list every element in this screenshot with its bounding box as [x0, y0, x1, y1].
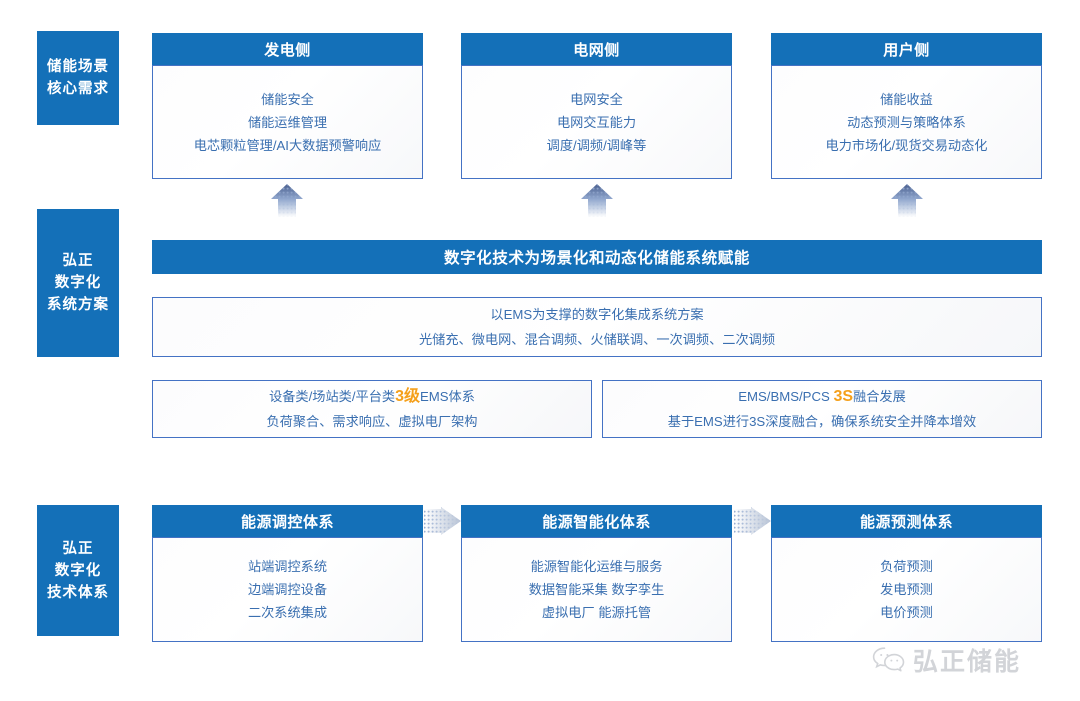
card-line: 能源智能化运维与服务 — [531, 555, 663, 578]
card-line: 电力市场化/现货交易动态化 — [826, 134, 988, 157]
right-chevron-dotted-icon — [733, 506, 773, 536]
sidebar-line: 数字化 — [47, 560, 109, 582]
card-line: 电网安全 — [570, 88, 623, 111]
box-line: 负荷聚合、需求响应、虚拟电厂架构 — [267, 409, 478, 434]
box-line: 设备类/场站类/平台类3级EMS体系 — [269, 384, 475, 409]
card-line: 电价预测 — [880, 601, 933, 624]
card-energy-intelligence[interactable]: 能源智能化体系 能源智能化运维与服务 数据智能采集 数字孪生 虚拟电厂 能源托管 — [461, 505, 732, 642]
card-body: 储能安全 储能运维管理 电芯颗粒管理/AI大数据预警响应 — [152, 65, 423, 179]
card-line: 储能收益 — [880, 88, 933, 111]
up-chevron-dotted-icon — [580, 183, 614, 219]
card-title: 能源智能化体系 — [461, 505, 732, 537]
card-line: 数据智能采集 数字孪生 — [529, 578, 665, 601]
card-body: 电网安全 电网交互能力 调度/调频/调峰等 — [461, 65, 732, 179]
sidebar-line: 系统方案 — [47, 294, 109, 316]
card-energy-forecast[interactable]: 能源预测体系 负荷预测 发电预测 电价预测 — [771, 505, 1042, 642]
box-three-s-fusion[interactable]: EMS/BMS/PCS 3S融合发展 基于EMS进行3S深度融合，确保系统安全并… — [602, 380, 1042, 438]
card-line: 二次系统集成 — [248, 601, 327, 624]
sidebar-line: 核心需求 — [47, 78, 109, 100]
card-line: 电芯颗粒管理/AI大数据预警响应 — [194, 134, 382, 157]
card-generation-side[interactable]: 发电侧 储能安全 储能运维管理 电芯颗粒管理/AI大数据预警响应 — [152, 33, 423, 179]
sidebar-line: 数字化 — [47, 272, 109, 294]
card-body: 能源智能化运维与服务 数据智能采集 数字孪生 虚拟电厂 能源托管 — [461, 537, 732, 642]
card-line: 边端调控设备 — [248, 578, 327, 601]
sidebar-label-digital-system-solution: 弘正 数字化 系统方案 — [37, 209, 119, 357]
box-line-highlight: 3级 — [395, 388, 420, 405]
card-body: 站端调控系统 边端调控设备 二次系统集成 — [152, 537, 423, 642]
sidebar-label-digital-technology-system: 弘正 数字化 技术体系 — [37, 505, 119, 636]
card-line: 调度/调频/调峰等 — [547, 134, 647, 157]
card-line: 电网交互能力 — [557, 111, 636, 134]
card-body: 储能收益 动态预测与策略体系 电力市场化/现货交易动态化 — [771, 65, 1042, 179]
sidebar-label-scenario-core-demand: 储能场景 核心需求 — [37, 31, 119, 125]
box-line: 以EMS为支撑的数字化集成系统方案 — [490, 302, 703, 327]
card-energy-dispatch-control[interactable]: 能源调控体系 站端调控系统 边端调控设备 二次系统集成 — [152, 505, 423, 642]
card-body: 负荷预测 发电预测 电价预测 — [771, 537, 1042, 642]
card-title: 用户侧 — [771, 33, 1042, 65]
card-line: 虚拟电厂 能源托管 — [542, 601, 651, 624]
sidebar-line: 弘正 — [47, 538, 109, 560]
up-chevron-dotted-icon — [890, 183, 924, 219]
sidebar-line: 技术体系 — [47, 582, 109, 604]
card-line: 站端调控系统 — [248, 555, 327, 578]
card-user-side[interactable]: 用户侧 储能收益 动态预测与策略体系 电力市场化/现货交易动态化 — [771, 33, 1042, 179]
box-line: EMS/BMS/PCS 3S融合发展 — [738, 384, 906, 409]
box-line: 基于EMS进行3S深度融合，确保系统安全并降本增效 — [668, 409, 976, 434]
up-chevron-dotted-icon — [270, 183, 304, 219]
box-line-pre: 设备类/场站类/平台类 — [269, 389, 395, 404]
watermark: 弘正储能 — [872, 642, 1021, 678]
sidebar-line: 储能场景 — [47, 56, 109, 78]
box-three-level-ems[interactable]: 设备类/场站类/平台类3级EMS体系 负荷聚合、需求响应、虚拟电厂架构 — [152, 380, 592, 438]
card-title: 能源调控体系 — [152, 505, 423, 537]
box-line-highlight: 3S — [833, 388, 853, 405]
card-title: 电网侧 — [461, 33, 732, 65]
box-line-post: 融合发展 — [853, 389, 906, 404]
box-line: 光储充、微电网、混合调频、火储联调、一次调频、二次调频 — [419, 327, 775, 352]
box-line-pre: EMS/BMS/PCS — [738, 389, 833, 404]
card-line: 发电预测 — [880, 578, 933, 601]
infographic-canvas: 储能场景 核心需求 发电侧 储能安全 储能运维管理 电芯颗粒管理/AI大数据预警… — [0, 0, 1080, 701]
box-ems-integrated-solution[interactable]: 以EMS为支撑的数字化集成系统方案 光储充、微电网、混合调频、火储联调、一次调频… — [152, 297, 1042, 357]
banner-digital-enablement: 数字化技术为场景化和动态化储能系统赋能 — [152, 240, 1042, 274]
card-line: 储能运维管理 — [248, 111, 327, 134]
right-chevron-dotted-icon — [423, 506, 463, 536]
card-line: 储能安全 — [261, 88, 314, 111]
watermark-text: 弘正储能 — [913, 642, 1021, 678]
card-line: 负荷预测 — [880, 555, 933, 578]
card-line: 动态预测与策略体系 — [847, 111, 966, 134]
wechat-icon — [872, 646, 906, 674]
card-title: 发电侧 — [152, 33, 423, 65]
card-grid-side[interactable]: 电网侧 电网安全 电网交互能力 调度/调频/调峰等 — [461, 33, 732, 179]
sidebar-line: 弘正 — [47, 250, 109, 272]
card-title: 能源预测体系 — [771, 505, 1042, 537]
box-line-post: EMS体系 — [420, 389, 475, 404]
